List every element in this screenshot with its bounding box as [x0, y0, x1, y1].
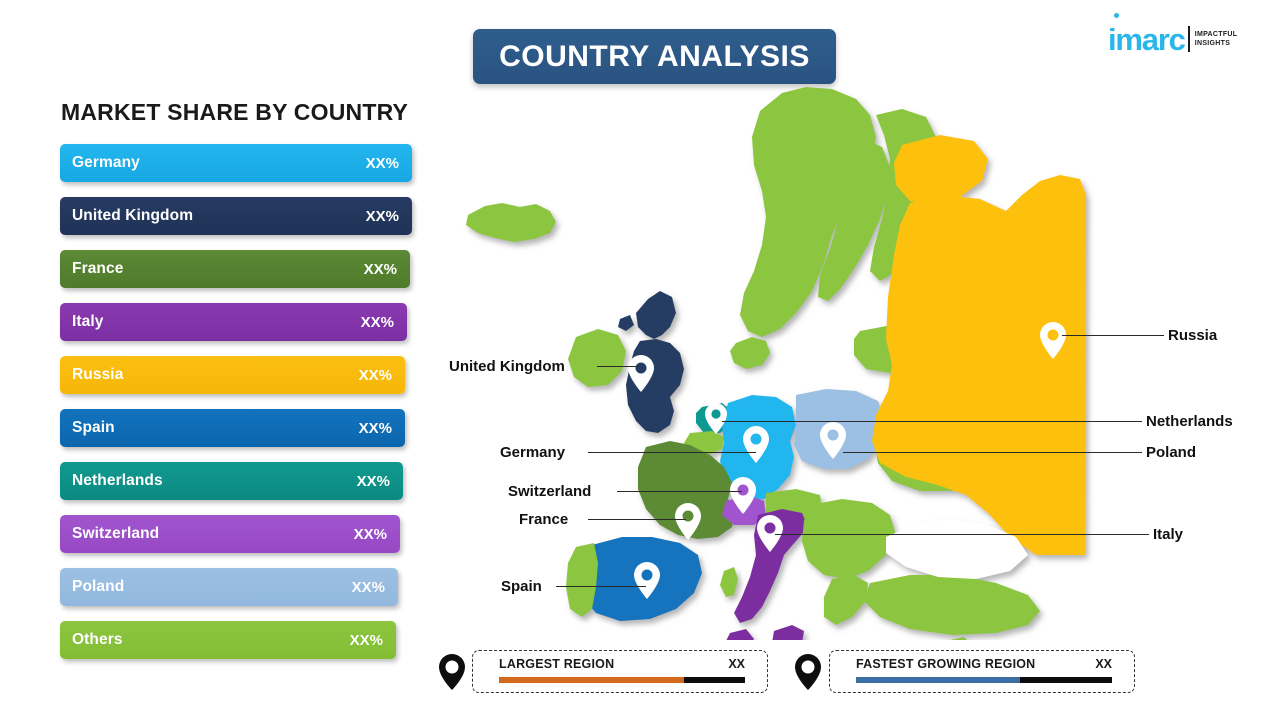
- country-label: Russia: [72, 366, 123, 384]
- largest-region-card[interactable]: LARGEST REGION XX: [472, 650, 768, 693]
- largest-region-label: LARGEST REGION: [499, 657, 614, 671]
- map-region-denmark: [730, 337, 770, 369]
- market-share-list: Germany XX% United Kingdom XX% France XX…: [60, 144, 415, 674]
- page-title-banner: COUNTRY ANALYSIS: [473, 29, 836, 84]
- list-item[interactable]: Germany XX%: [60, 144, 412, 182]
- country-label: Italy: [72, 313, 104, 331]
- list-item[interactable]: United Kingdom XX%: [60, 197, 412, 235]
- country-label: France: [72, 260, 123, 278]
- imarc-logo: imarc IMPACTFUL INSIGHTS: [1108, 20, 1268, 58]
- logo-divider: [1188, 26, 1190, 52]
- logo-tagline: IMPACTFUL INSIGHTS: [1195, 30, 1238, 49]
- leader-line-poland: [843, 452, 1142, 453]
- country-label: Netherlands: [72, 472, 163, 490]
- logo-dot-icon: [1114, 13, 1119, 18]
- country-value: XX%: [359, 367, 392, 384]
- map-region-cyprus: [946, 637, 972, 640]
- fastest-growing-region-label: FASTEST GROWING REGION: [856, 657, 1035, 671]
- map-label-netherlands: Netherlands: [1146, 413, 1233, 430]
- logo-tagline-line2: INSIGHTS: [1195, 39, 1238, 48]
- largest-region-row: LARGEST REGION XX: [499, 657, 745, 671]
- fastest-growing-region-fill: [856, 677, 1020, 683]
- leader-line-switzerland: [617, 491, 742, 492]
- map-label-russia: Russia: [1168, 327, 1217, 344]
- location-pin-icon: [437, 653, 467, 691]
- list-item[interactable]: Italy XX%: [60, 303, 407, 341]
- leader-line-italy: [775, 534, 1149, 535]
- country-value: XX%: [354, 526, 387, 543]
- map-label-italy: Italy: [1153, 526, 1183, 543]
- list-item[interactable]: Others XX%: [60, 621, 396, 659]
- map-region-iceland: [466, 203, 556, 242]
- logo-tagline-line1: IMPACTFUL: [1195, 30, 1238, 39]
- country-value: XX%: [364, 261, 397, 278]
- fastest-growing-region-row: FASTEST GROWING REGION XX: [856, 657, 1112, 671]
- country-value: XX%: [366, 155, 399, 172]
- largest-region-fill: [499, 677, 684, 683]
- country-label: Others: [72, 631, 123, 649]
- slide-canvas: COUNTRY ANALYSIS imarc IMPACTFUL INSIGHT…: [0, 0, 1280, 720]
- map-label-france: France: [519, 511, 568, 528]
- country-label: United Kingdom: [72, 207, 193, 225]
- location-pin-icon: [793, 653, 823, 691]
- map-label-united-kingdom: United Kingdom: [449, 358, 565, 375]
- country-label: Germany: [72, 154, 140, 172]
- list-item[interactable]: Netherlands XX%: [60, 462, 403, 500]
- market-share-title: MARKET SHARE BY COUNTRY: [61, 99, 408, 126]
- list-item[interactable]: Russia XX%: [60, 356, 405, 394]
- map-label-poland: Poland: [1146, 444, 1196, 461]
- country-value: XX%: [366, 208, 399, 225]
- list-item[interactable]: Switzerland XX%: [60, 515, 400, 553]
- country-value: XX%: [357, 473, 390, 490]
- leader-line-france: [588, 519, 686, 520]
- map-region-ireland: [568, 329, 626, 387]
- leader-line-netherlands: [722, 421, 1142, 422]
- fastest-growing-region-value: XX: [1095, 657, 1112, 671]
- leader-line-russia: [1062, 335, 1164, 336]
- leader-line-germany: [588, 452, 756, 453]
- country-value: XX%: [350, 632, 383, 649]
- fastest-growing-region-track: [856, 677, 1112, 683]
- country-label: Poland: [72, 578, 124, 596]
- country-value: XX%: [361, 314, 394, 331]
- list-item[interactable]: Poland XX%: [60, 568, 398, 606]
- list-item[interactable]: Spain XX%: [60, 409, 405, 447]
- list-item[interactable]: France XX%: [60, 250, 410, 288]
- country-label: Switzerland: [72, 525, 159, 543]
- country-value: XX%: [352, 579, 385, 596]
- map-label-switzerland: Switzerland: [508, 483, 591, 500]
- country-label: Spain: [72, 419, 115, 437]
- map-region-islands-west-med: [720, 567, 738, 597]
- page-title: COUNTRY ANALYSIS: [499, 40, 810, 74]
- map-region-greece: [824, 575, 868, 625]
- fastest-growing-region-card[interactable]: FASTEST GROWING REGION XX: [829, 650, 1135, 693]
- map-label-germany: Germany: [500, 444, 565, 461]
- map-label-spain: Spain: [501, 578, 542, 595]
- logo-wordmark: imarc: [1108, 24, 1185, 55]
- map-region-turkey: [864, 575, 1040, 635]
- leader-line-uk: [597, 366, 639, 367]
- country-value: XX%: [359, 420, 392, 437]
- map-region-balkans: [802, 499, 896, 579]
- leader-line-spain: [556, 586, 646, 587]
- largest-region-track: [499, 677, 745, 683]
- largest-region-value: XX: [728, 657, 745, 671]
